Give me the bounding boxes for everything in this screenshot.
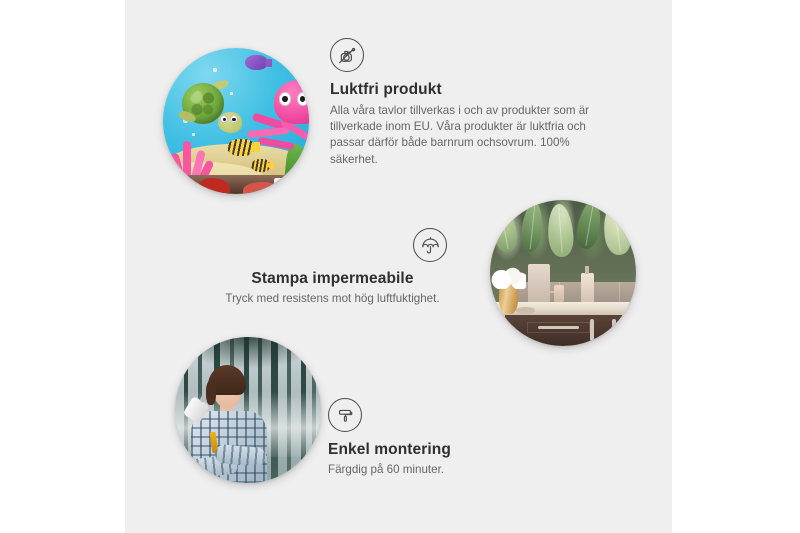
room-foreground-strip <box>163 175 309 194</box>
promo-graphic: Luktfri produkt Alla våra tavlor tillver… <box>0 0 800 533</box>
bathroom-tropical-wallpaper-circle <box>490 200 636 346</box>
feature-description: Tryck med resistens mot hög luftfuktighe… <box>200 291 465 307</box>
no-odour-spray-bottle-icon <box>330 38 364 72</box>
soap-dispenser <box>581 273 594 305</box>
feature-title: Stampa impermeabile <box>200 270 465 288</box>
yellow-striped-fish <box>227 139 253 157</box>
soap-dish <box>516 307 535 314</box>
feature-description: Alla våra tavlor tillverkas i och av pro… <box>330 103 610 168</box>
feature-title: Enkel montering <box>328 441 578 459</box>
woman-paint-roller-forest-circle <box>175 337 321 483</box>
feature-block-easy-installation: Enkel montering Färgdig på 60 minuter. <box>328 398 578 478</box>
green-turtle <box>182 83 243 136</box>
paint-roller-icon <box>328 398 362 432</box>
white-object <box>274 178 284 191</box>
feature-title: Luktfri produkt <box>330 81 620 99</box>
feature-description: Färgdig på 60 minuter. <box>328 462 578 478</box>
feature-block-odour-free: Luktfri produkt Alla våra tavlor tillver… <box>330 38 620 168</box>
wood-vanity <box>505 315 636 346</box>
soap-bar <box>554 285 564 303</box>
woman-with-roller <box>184 366 275 483</box>
purple-fish <box>245 55 267 70</box>
yellow-striped-fish <box>251 159 270 172</box>
pink-octopus <box>256 80 309 159</box>
woman-hair <box>208 365 246 395</box>
white-flowers <box>491 266 526 289</box>
underwater-kids-mural-circle <box>163 48 309 194</box>
umbrella-icon <box>413 228 447 262</box>
feature-block-waterproof-print: Stampa impermeabile Tryck med resistens … <box>200 228 465 307</box>
